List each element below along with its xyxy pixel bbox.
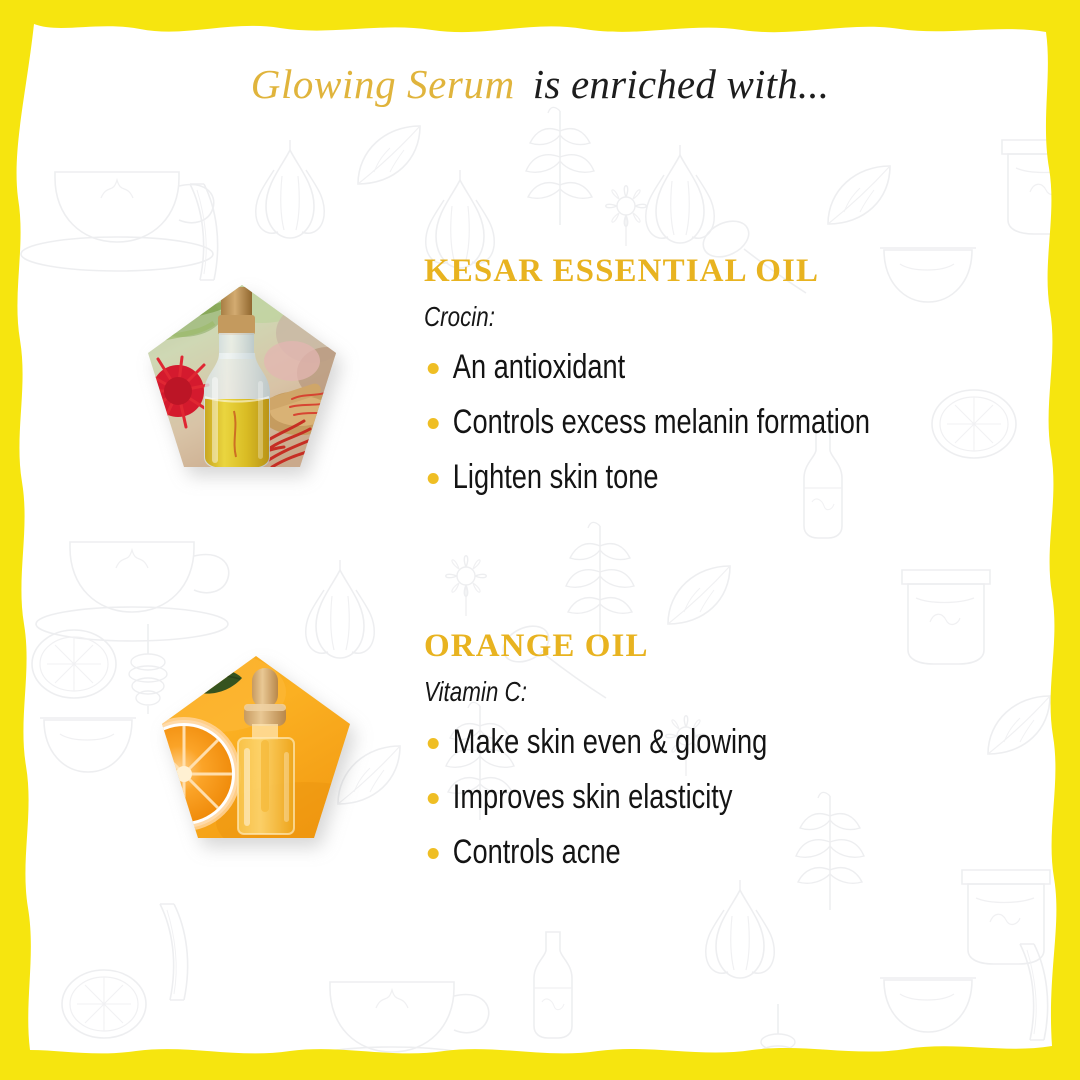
list-item: Lighten skin tone — [424, 450, 904, 505]
benefit-text: Make skin even & glowing — [453, 723, 767, 761]
ingredient-infographic-poster: Glowing Serumis enriched with... — [0, 0, 1080, 1080]
benefit-text: Lighten skin tone — [453, 458, 659, 496]
kesar-oil-bottle-photo — [142, 281, 342, 477]
list-item: Improves skin elasticity — [424, 770, 904, 825]
bullet-dot-icon — [428, 363, 439, 374]
brand-name: Glowing Serum — [251, 61, 515, 107]
list-item: Controls excess melanin formation — [424, 395, 904, 450]
benefit-text: Controls acne — [453, 833, 621, 871]
ingredient-title-kesar: KESAR ESSENTIAL OIL — [424, 255, 1024, 288]
ingredient-title-orange: ORANGE OIL — [424, 630, 1024, 663]
list-item: Make skin even & glowing — [424, 715, 904, 770]
benefit-text: An antioxidant — [453, 348, 625, 386]
ingredient-subtitle-kesar: Crocin: — [424, 301, 904, 333]
page-title: Glowing Serumis enriched with... — [0, 62, 1080, 107]
ingredient-subtitle-orange: Vitamin C: — [424, 676, 904, 708]
benefit-text: Controls excess melanin formation — [453, 403, 870, 441]
ingredient-block-kesar-essential-oil: KESAR ESSENTIAL OIL Crocin: An antioxida… — [0, 255, 1080, 545]
kesar-text-column: KESAR ESSENTIAL OIL Crocin: An antioxida… — [424, 255, 1024, 505]
bullet-dot-icon — [428, 473, 439, 484]
bullet-dot-icon — [428, 848, 439, 859]
list-item: An antioxidant — [424, 340, 904, 395]
benefit-text: Improves skin elasticity — [453, 778, 733, 816]
bullet-dot-icon — [428, 418, 439, 429]
orange-text-column: ORANGE OIL Vitamin C: Make skin even & g… — [424, 630, 1024, 880]
ingredient-block-orange-oil: ORANGE OIL Vitamin C: Make skin even & g… — [0, 630, 1080, 920]
benefit-list-kesar: An antioxidant Controls excess melanin f… — [424, 340, 1024, 505]
bullet-dot-icon — [428, 738, 439, 749]
orange-oil-dropper-photo — [156, 652, 356, 848]
list-item: Controls acne — [424, 825, 904, 880]
headline-suffix: is enriched with... — [533, 61, 829, 107]
benefit-list-orange: Make skin even & glowing Improves skin e… — [424, 715, 1024, 880]
bullet-dot-icon — [428, 793, 439, 804]
